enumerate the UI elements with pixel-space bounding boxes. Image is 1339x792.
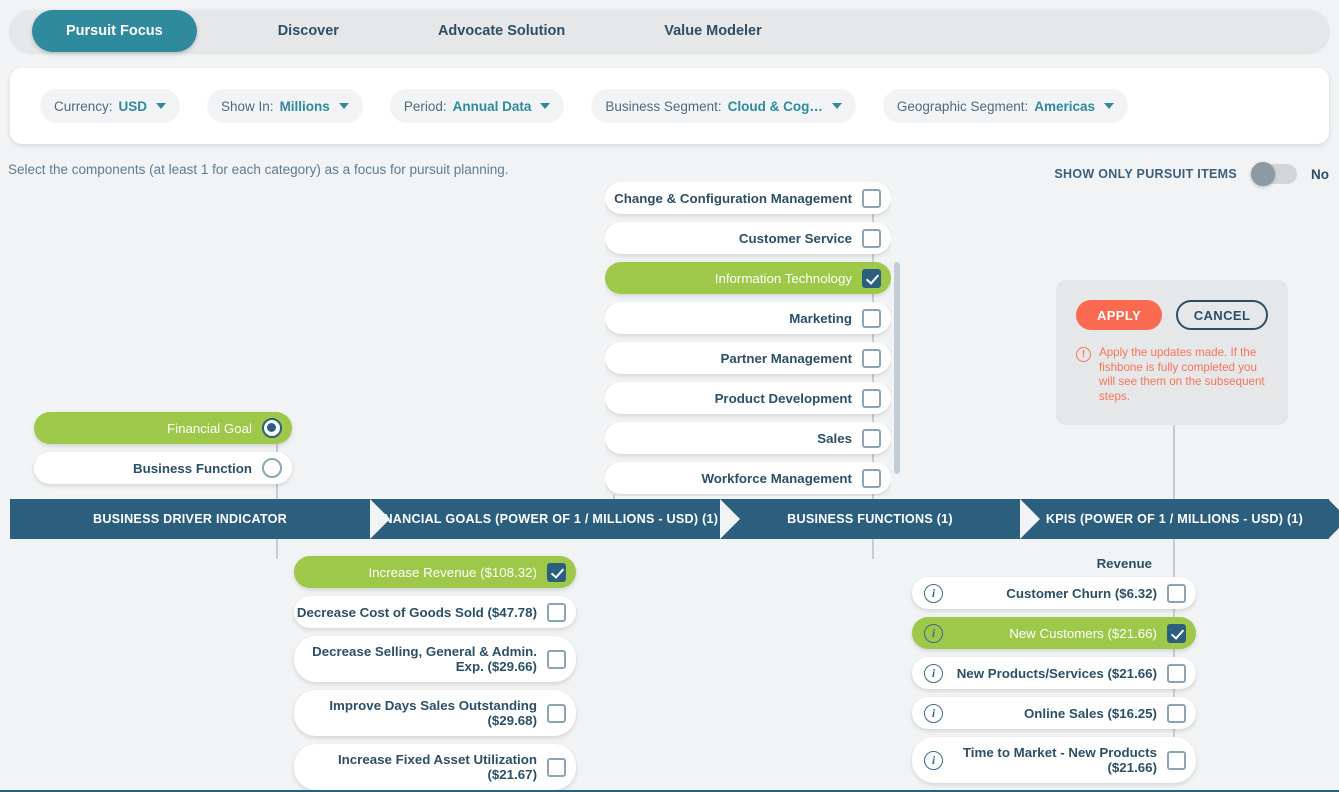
info-icon[interactable]: i xyxy=(924,624,943,643)
connector-line-right xyxy=(1173,424,1175,500)
kpi-item[interactable]: i Online Sales ($16.25) xyxy=(912,697,1196,729)
financial-goal-item[interactable]: Improve Days Sales Outstanding ($29.68) xyxy=(294,690,576,736)
checkbox-improve-days-sales-outstanding[interactable] xyxy=(547,704,566,723)
show-only-pursuit-items-label: SHOW ONLY PURSUIT ITEMS xyxy=(1054,167,1237,181)
filter-business-segment[interactable]: Business Segment: Cloud & Cog… xyxy=(591,89,856,123)
checkbox-information-technology[interactable] xyxy=(862,269,881,288)
filter-geographic-segment[interactable]: Geographic Segment: Americas xyxy=(883,89,1128,123)
checkbox-customer-service[interactable] xyxy=(862,229,881,248)
show-only-pursuit-items-state: No xyxy=(1311,167,1329,182)
filter-show-in-label: Show In: xyxy=(221,99,274,114)
kpi-group-label: Revenue xyxy=(912,556,1196,571)
stage-business-functions: BUSINESS FUNCTIONS (1) xyxy=(720,499,1020,539)
stage-label: KPIS (POWER OF 1 / MILLIONS - USD) (1) xyxy=(1046,512,1303,526)
stage-label: BUSINESS FUNCTIONS (1) xyxy=(787,512,953,526)
show-only-pursuit-items-row: SHOW ONLY PURSUIT ITEMS No xyxy=(1054,164,1329,184)
checkbox-decrease-selling-general-admin-exp[interactable] xyxy=(547,650,566,669)
business-function-label: Product Development xyxy=(715,385,852,412)
exclamation-circle-icon: ! xyxy=(1076,347,1091,362)
checkbox-new-customers[interactable] xyxy=(1167,624,1186,643)
driver-item-label: Business Function xyxy=(133,455,252,482)
checkbox-time-to-market-new-products[interactable] xyxy=(1167,751,1186,770)
checkbox-workforce-management[interactable] xyxy=(862,469,881,488)
business-function-item[interactable]: Sales xyxy=(605,422,891,454)
driver-item-financial-goal[interactable]: Financial Goal xyxy=(34,412,292,444)
kpi-item[interactable]: i Time to Market - New Products ($21.66) xyxy=(912,737,1196,783)
business-function-item[interactable]: Product Development xyxy=(605,382,891,414)
financial-goal-label: Decrease Cost of Goods Sold ($47.78) xyxy=(297,597,537,628)
apply-panel: APPLY CANCEL ! Apply the updates made. I… xyxy=(1056,280,1288,425)
business-functions-list[interactable]: Change & Configuration Management Custom… xyxy=(605,182,891,496)
filter-currency[interactable]: Currency: USD xyxy=(40,89,180,123)
stage-business-driver-indicator: BUSINESS DRIVER INDICATOR xyxy=(10,499,370,539)
filter-business-segment-label: Business Segment: xyxy=(605,99,721,114)
stage-notch-icon xyxy=(1020,499,1040,539)
kpi-label: Time to Market - New Products ($21.66) xyxy=(943,737,1157,783)
financial-goal-item[interactable]: Decrease Selling, General & Admin. Exp. … xyxy=(294,636,576,682)
show-only-pursuit-items-toggle[interactable] xyxy=(1251,164,1297,184)
checkbox-new-products-services[interactable] xyxy=(1167,664,1186,683)
business-function-item[interactable]: Change & Configuration Management xyxy=(605,182,891,214)
info-icon[interactable]: i xyxy=(924,584,943,603)
tab-advocate-solution[interactable]: Advocate Solution xyxy=(420,10,583,52)
driver-item-label: Financial Goal xyxy=(167,415,252,442)
stage-notch-icon xyxy=(370,499,390,539)
checkbox-product-development[interactable] xyxy=(862,389,881,408)
filter-show-in[interactable]: Show In: Millions xyxy=(207,89,363,123)
filter-period-label: Period: xyxy=(404,99,447,114)
tab-value-modeler[interactable]: Value Modeler xyxy=(646,10,780,52)
kpi-label: Online Sales ($16.25) xyxy=(1024,698,1157,729)
filter-currency-value: USD xyxy=(119,99,148,114)
cancel-button[interactable]: CANCEL xyxy=(1176,300,1268,330)
kpi-item[interactable]: i Customer Churn ($6.32) xyxy=(912,577,1196,609)
checkbox-sales[interactable] xyxy=(862,429,881,448)
toggle-knob xyxy=(1251,162,1275,186)
business-function-label: Sales xyxy=(817,425,852,452)
connector-line-mid-lower xyxy=(872,539,874,559)
business-function-label: Workforce Management xyxy=(702,465,853,492)
filter-currency-label: Currency: xyxy=(54,99,113,114)
main-tabbar: Pursuit Focus Discover Advocate Solution… xyxy=(10,10,1329,52)
filter-geographic-segment-label: Geographic Segment: xyxy=(897,99,1028,114)
apply-panel-buttons: APPLY CANCEL xyxy=(1076,300,1268,330)
kpi-label: Customer Churn ($6.32) xyxy=(1006,578,1157,609)
stage-financial-goals: FINANCIAL GOALS (POWER OF 1 / MILLIONS -… xyxy=(370,499,720,539)
kpi-label: New Customers ($21.66) xyxy=(1009,618,1157,649)
radio-business-function[interactable] xyxy=(262,458,282,478)
checkbox-increase-revenue[interactable] xyxy=(547,563,566,582)
stage-arrow-icon xyxy=(1328,499,1339,539)
business-function-item[interactable]: Partner Management xyxy=(605,342,891,374)
checkbox-increase-fixed-asset-utilization[interactable] xyxy=(547,758,566,777)
chevron-down-icon xyxy=(339,103,349,109)
apply-button[interactable]: APPLY xyxy=(1076,300,1162,330)
stage-label: FINANCIAL GOALS (POWER OF 1 / MILLIONS -… xyxy=(372,512,718,526)
instruction-text: Select the components (at least 1 for ea… xyxy=(8,162,509,177)
stage-label: BUSINESS DRIVER INDICATOR xyxy=(93,512,287,526)
kpi-item[interactable]: i New Products/Services ($21.66) xyxy=(912,657,1196,689)
filter-period-value: Annual Data xyxy=(453,99,532,114)
apply-panel-note-text: Apply the updates made. If the fishbone … xyxy=(1099,346,1268,404)
connector-line-left-lower xyxy=(276,539,278,559)
filter-show-in-value: Millions xyxy=(280,99,330,114)
checkbox-decrease-cost-of-goods-sold[interactable] xyxy=(547,603,566,622)
business-function-item[interactable]: Customer Service xyxy=(605,222,891,254)
tab-pursuit-focus[interactable]: Pursuit Focus xyxy=(32,10,197,52)
business-function-label: Marketing xyxy=(789,305,852,332)
chevron-down-icon xyxy=(832,103,842,109)
business-function-label: Customer Service xyxy=(739,225,852,252)
checkbox-change-configuration-management[interactable] xyxy=(862,189,881,208)
business-function-item[interactable]: Marketing xyxy=(605,302,891,334)
tab-discover[interactable]: Discover xyxy=(260,10,357,52)
business-driver-indicator-list: Financial Goal Business Function xyxy=(34,412,292,492)
info-icon[interactable]: i xyxy=(924,664,943,683)
financial-goal-item[interactable]: Increase Revenue ($108.32) xyxy=(294,556,576,588)
financial-goal-label: Increase Revenue ($108.32) xyxy=(368,557,537,588)
business-function-label: Partner Management xyxy=(720,345,852,372)
driver-item-business-function[interactable]: Business Function xyxy=(34,452,292,484)
filter-bar: Currency: USD Show In: Millions Period: … xyxy=(10,68,1329,144)
info-icon[interactable]: i xyxy=(924,704,943,723)
business-function-label: Change & Configuration Management xyxy=(614,185,852,212)
business-function-item[interactable]: Information Technology xyxy=(605,262,891,294)
business-functions-scrollbar[interactable] xyxy=(894,262,900,474)
chevron-down-icon xyxy=(540,103,550,109)
business-function-label: Information Technology xyxy=(715,265,852,292)
checkbox-partner-management[interactable] xyxy=(862,349,881,368)
kpi-label: New Products/Services ($21.66) xyxy=(957,658,1157,689)
checkbox-marketing[interactable] xyxy=(862,309,881,328)
checkbox-customer-churn[interactable] xyxy=(1167,584,1186,603)
radio-financial-goal[interactable] xyxy=(262,418,282,438)
stage-notch-icon xyxy=(720,499,740,539)
chevron-down-icon xyxy=(156,103,166,109)
stage-kpis: KPIS (POWER OF 1 / MILLIONS - USD) (1) xyxy=(1020,499,1329,539)
financial-goals-list: Increase Revenue ($108.32) Decrease Cost… xyxy=(294,556,576,792)
financial-goal-label: Increase Fixed Asset Utilization ($21.67… xyxy=(294,744,537,790)
filter-geographic-segment-value: Americas xyxy=(1034,99,1095,114)
business-function-item[interactable]: Workforce Management xyxy=(605,462,891,494)
financial-goal-item[interactable]: Increase Fixed Asset Utilization ($21.67… xyxy=(294,744,576,790)
filter-period[interactable]: Period: Annual Data xyxy=(390,89,565,123)
pursuit-focus-page: Pursuit Focus Discover Advocate Solution… xyxy=(0,0,1339,792)
chevron-down-icon xyxy=(1104,103,1114,109)
financial-goal-item[interactable]: Decrease Cost of Goods Sold ($47.78) xyxy=(294,596,576,628)
kpi-list: Revenue i Customer Churn ($6.32) i New C… xyxy=(912,556,1196,791)
info-icon[interactable]: i xyxy=(924,751,943,770)
filter-business-segment-value: Cloud & Cog… xyxy=(728,99,823,114)
checkbox-online-sales[interactable] xyxy=(1167,704,1186,723)
financial-goal-label: Improve Days Sales Outstanding ($29.68) xyxy=(294,690,537,736)
stage-ribbon: BUSINESS DRIVER INDICATOR FINANCIAL GOAL… xyxy=(0,499,1339,539)
kpi-item[interactable]: i New Customers ($21.66) xyxy=(912,617,1196,649)
financial-goal-label: Decrease Selling, General & Admin. Exp. … xyxy=(294,636,537,682)
apply-panel-note: ! Apply the updates made. If the fishbon… xyxy=(1076,346,1268,404)
